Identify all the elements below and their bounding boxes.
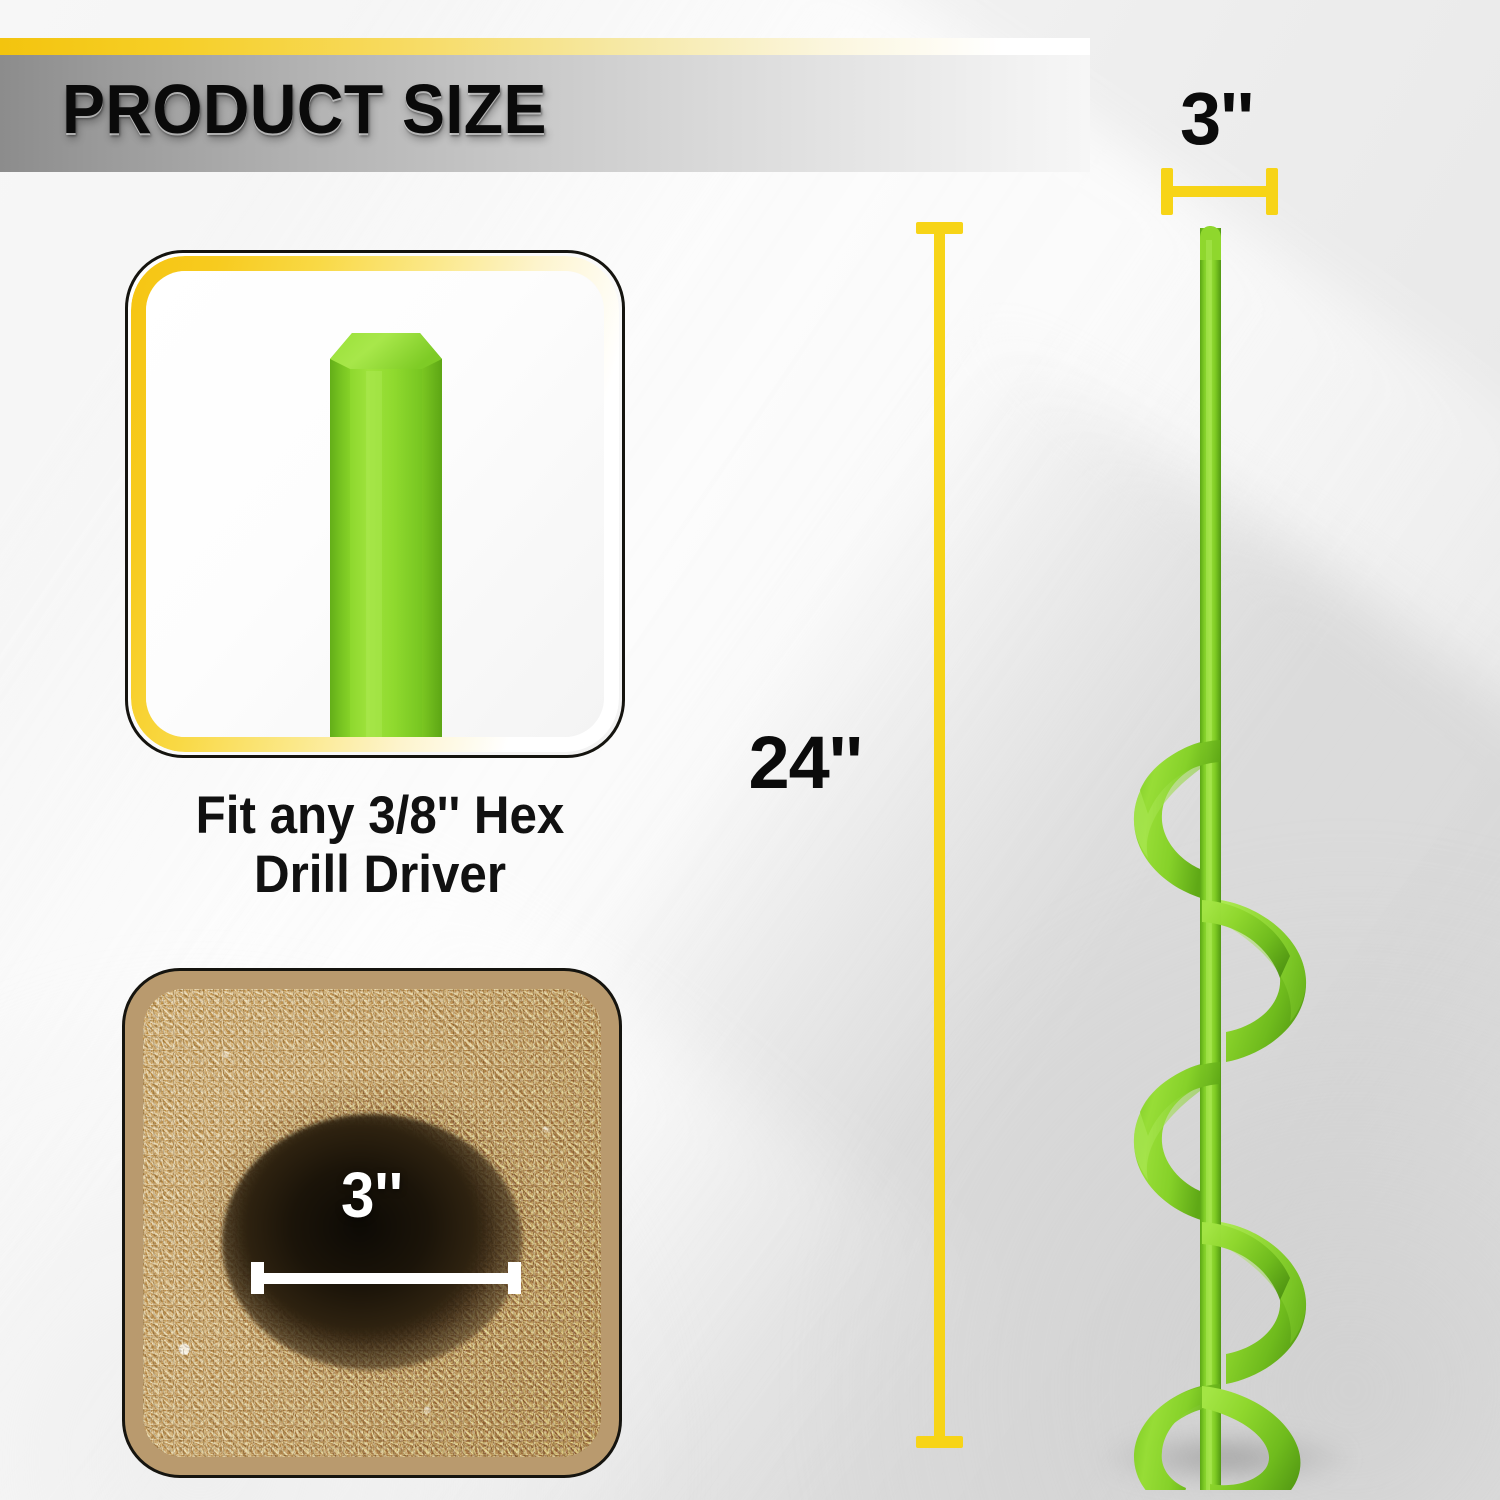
soil-photo: 3'' [143, 989, 601, 1457]
length-dimension-line [934, 222, 945, 1448]
caption-line-1: Fit any 3/8'' Hex [120, 786, 641, 845]
length-dimension-cap-bottom [916, 1436, 963, 1448]
header-yellow-stripe [0, 38, 1090, 56]
hole-diameter-label: 3'' [157, 1163, 588, 1227]
hex-shaft-card [125, 250, 625, 758]
page-title: PRODUCT SIZE [62, 74, 547, 144]
hole-diameter-caliper [251, 1256, 521, 1300]
hex-shank-illustration [322, 307, 450, 737]
drilled-hole [222, 1114, 522, 1370]
diameter-dimension-line [1161, 186, 1278, 197]
hex-shaft-caption: Fit any 3/8'' Hex Drill Driver [120, 786, 641, 905]
diameter-dimension-label: 3'' [1180, 82, 1253, 156]
hex-shaft-photo [146, 271, 604, 737]
drilled-hole-card: 3'' [122, 968, 622, 1478]
caption-line-2: Drill Driver [120, 845, 641, 904]
infographic-canvas: PRODUCT SIZE [0, 0, 1500, 1500]
length-dimension-label: 24'' [748, 726, 862, 800]
header-banner: PRODUCT SIZE [0, 38, 1090, 172]
auger-drill-bit [1090, 200, 1350, 1490]
